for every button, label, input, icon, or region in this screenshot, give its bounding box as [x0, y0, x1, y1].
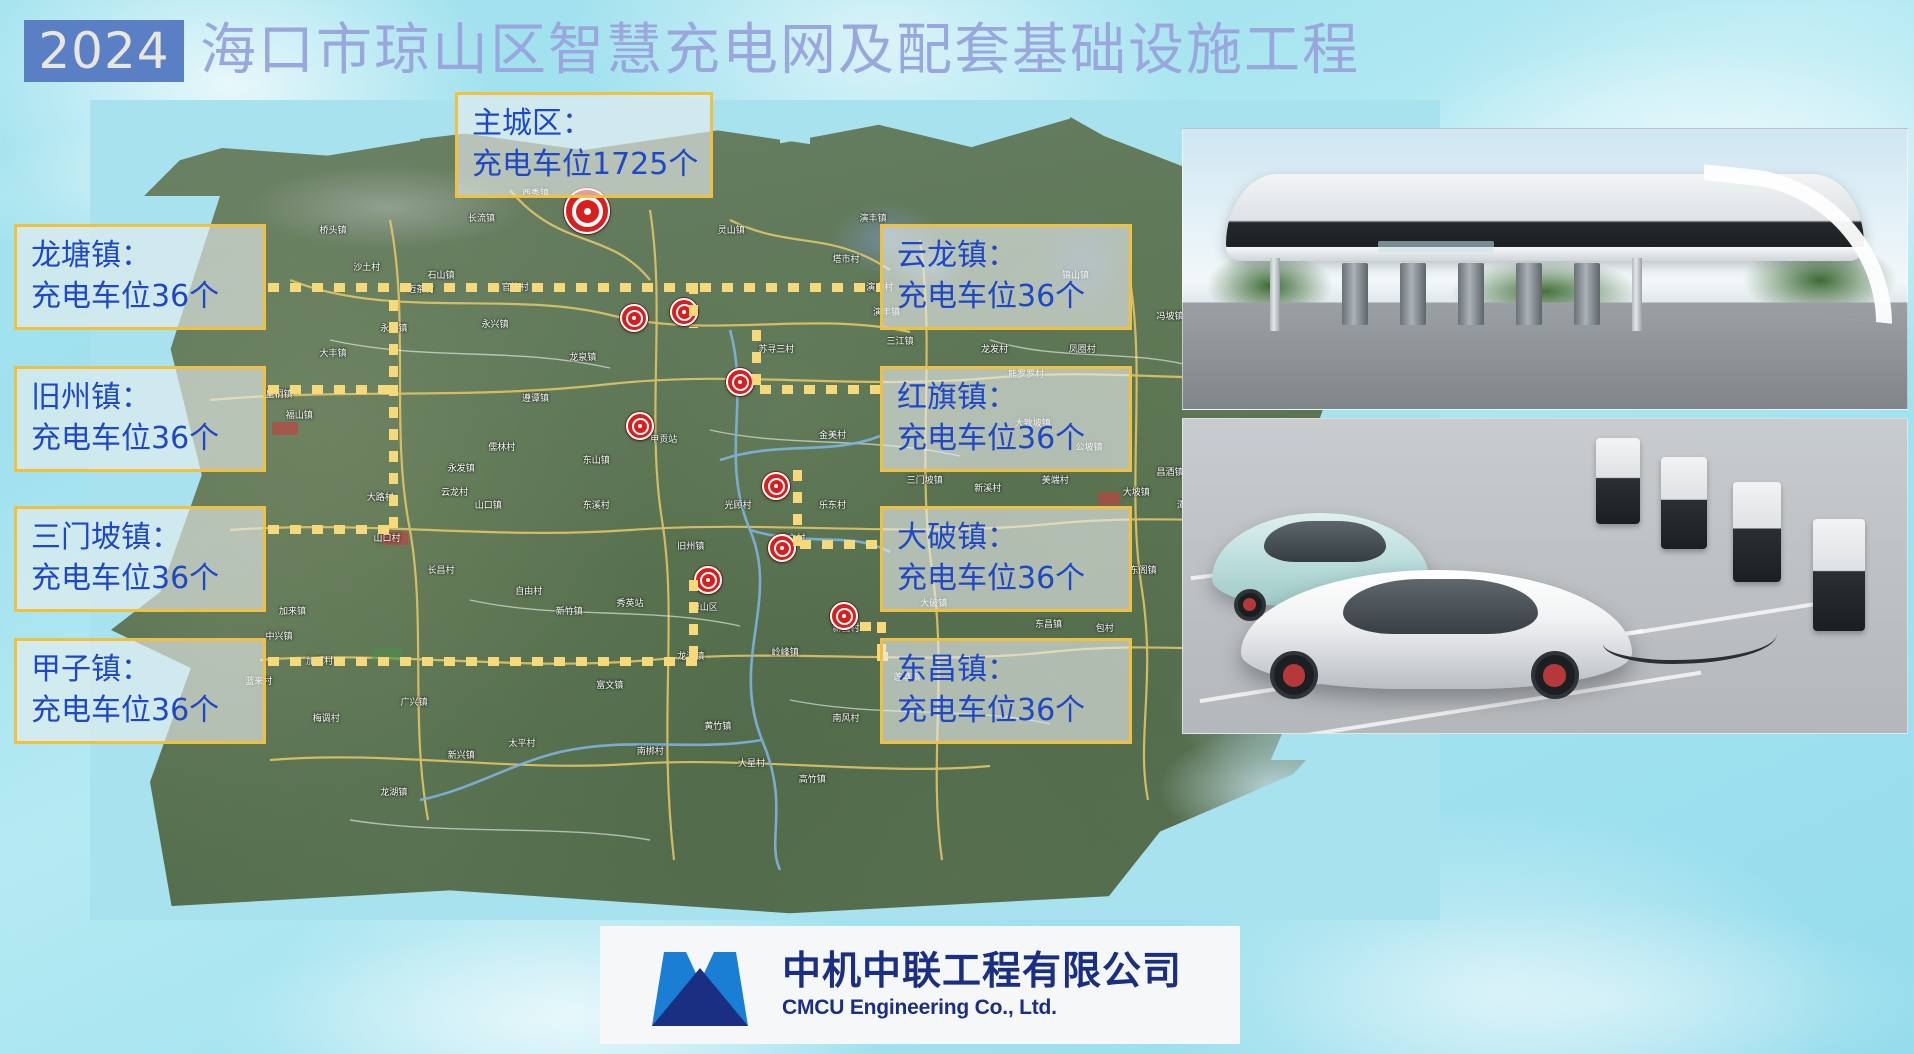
map-place-label: 苏寻三村	[758, 342, 794, 355]
map-place-label: 三江镇	[887, 334, 914, 347]
ev-charger-post-1	[1596, 438, 1640, 524]
charger-marker-dongchang[interactable]	[830, 602, 858, 630]
car-white-wheel-rear	[1531, 651, 1579, 699]
year-badge: 2024	[24, 20, 184, 82]
map-place-label: 包村	[1096, 621, 1114, 634]
charging-cable	[1603, 614, 1777, 664]
map-place-label: 金美村	[819, 428, 846, 441]
callout-detail: 充电车位36个	[31, 418, 249, 459]
map-place-label: 永兴镇	[482, 317, 509, 330]
station-charger-1	[1342, 263, 1368, 325]
map-place-label: 大星村	[738, 756, 765, 769]
map-place-label: 龙泉镇	[569, 350, 596, 363]
ev-charger-post-3	[1733, 482, 1781, 582]
connector-jiazi	[268, 657, 698, 666]
map-place-label: 旧州镇	[677, 539, 704, 552]
map-place-label: 太平村	[509, 736, 536, 749]
callout-detail: 充电车位1725个	[472, 144, 696, 185]
charger-marker-jiuzhou[interactable]	[626, 412, 654, 440]
connector-hongqi	[760, 385, 880, 394]
callout-detail: 充电车位36个	[31, 690, 249, 731]
station-leg-2	[1632, 258, 1642, 331]
map-place-label: 东昌镇	[1035, 617, 1062, 630]
map-place-label: 龙发村	[981, 342, 1008, 355]
company-logo-bar: 中机中联工程有限公司 CMCU Engineering Co., Ltd.	[600, 926, 1240, 1044]
map-place-label: 长昌村	[428, 563, 455, 576]
charging-station-photo	[1182, 128, 1908, 410]
car-white-wheel-front	[1270, 651, 1318, 699]
map-place-label: 三门坡镇	[907, 473, 943, 486]
map-place-label: 南风村	[833, 711, 860, 724]
car-windshield	[1264, 521, 1386, 562]
callout-title: 云龙镇：	[897, 235, 1115, 276]
callout-title: 龙塘镇：	[31, 235, 249, 276]
map-place-label: 演丰镇	[860, 211, 887, 224]
station-swoosh	[1704, 164, 1892, 324]
map-place-label: 光顾村	[725, 498, 752, 511]
connector-hongqi-v	[752, 330, 761, 390]
connector-yunlong	[700, 283, 880, 292]
callout-main-city[interactable]: 主城区： 充电车位1725个	[455, 92, 713, 198]
callout-dongchang[interactable]: 东昌镇： 充电车位36个	[880, 638, 1132, 744]
map-place-label: 昌酒镇	[1157, 465, 1184, 478]
callout-hongqi[interactable]: 红旗镇： 充电车位36个	[880, 366, 1132, 472]
map-place-label: 永发镇	[448, 461, 475, 474]
map-place-label: 中兴镇	[266, 629, 293, 642]
station-leg-1	[1270, 258, 1280, 331]
callout-title: 三门坡镇：	[31, 517, 249, 558]
map-place-label: 东溪村	[583, 498, 610, 511]
connector-dapo	[800, 540, 884, 549]
map-place-label: 福山镇	[286, 408, 313, 421]
map-place-label: 东阁镇	[1130, 563, 1157, 576]
map-place-label: 富文镇	[596, 678, 623, 691]
map-place-label: 广兴镇	[401, 695, 428, 708]
ev-parking-photo	[1182, 418, 1908, 734]
map-place-label: 东山镇	[583, 453, 610, 466]
connector-sanmenpo	[268, 525, 398, 534]
callout-detail: 充电车位36个	[31, 558, 249, 599]
map-place-label: 南梆村	[637, 744, 664, 757]
map-place-label: 甲贡站	[650, 432, 677, 445]
map-place-label: 秀英站	[617, 596, 644, 609]
map-place-label: 长流镇	[468, 211, 495, 224]
map-place-label: 美端村	[1042, 473, 1069, 486]
map-place-label: 新溪村	[974, 481, 1001, 494]
map-place-label: 乐东村	[819, 498, 846, 511]
connector-dapo-v	[793, 470, 802, 546]
callout-dapo[interactable]: 大破镇： 充电车位36个	[880, 506, 1132, 612]
map-place-label: 加来镇	[279, 604, 306, 617]
callout-detail: 充电车位36个	[31, 276, 249, 317]
callout-title: 旧州镇：	[31, 377, 249, 418]
company-name-en: CMCU Engineering Co., Ltd.	[782, 995, 1182, 1021]
callout-longtang[interactable]: 龙塘镇： 充电车位36个	[14, 224, 266, 330]
connector-jiazi-v	[689, 580, 698, 662]
map-place-label: 儒林村	[488, 440, 515, 453]
map-place-label: 沙土村	[353, 260, 380, 273]
station-charger-3	[1458, 263, 1484, 325]
background-watercolor-4	[1250, 900, 1914, 1054]
map-place-label: 凤圈村	[1069, 342, 1096, 355]
callout-jiuzhou[interactable]: 旧州镇： 充电车位36个	[14, 366, 266, 472]
callout-title: 红旗镇：	[897, 377, 1115, 418]
callout-title: 东昌镇：	[897, 649, 1115, 690]
map-place-label: 灵山镇	[718, 223, 745, 236]
callout-yunlong[interactable]: 云龙镇： 充电车位36个	[880, 224, 1132, 330]
charger-marker-dapo[interactable]	[768, 534, 796, 562]
charger-marker-longtang[interactable]	[620, 304, 648, 332]
callout-detail: 充电车位36个	[897, 558, 1115, 599]
mountain-m-icon	[644, 942, 756, 1028]
station-signage	[1378, 241, 1494, 252]
station-charger-4	[1516, 263, 1542, 325]
ev-charger-post-4	[1813, 519, 1865, 631]
logo-text: 中机中联工程有限公司 CMCU Engineering Co., Ltd.	[782, 949, 1182, 1021]
map-place-label: 龙湖镇	[380, 785, 407, 798]
map-place-label: 黄竹镇	[704, 719, 731, 732]
charger-marker-jiazi[interactable]	[694, 566, 722, 594]
map-place-label: 桥头镇	[320, 223, 347, 236]
map-place-label: 大坡镇	[1123, 485, 1150, 498]
station-charger-2	[1400, 263, 1426, 325]
station-charger-5	[1574, 263, 1600, 325]
car-roof-glass	[1343, 579, 1538, 634]
map-place-label: 梅调村	[313, 711, 340, 724]
map-place-label: 高竹镇	[799, 772, 826, 785]
callout-title: 大破镇：	[897, 517, 1115, 558]
charger-marker-sanmenpo[interactable]	[762, 472, 790, 500]
connector-longtang	[268, 283, 698, 292]
callout-detail: 充电车位36个	[897, 418, 1115, 459]
callout-title: 主城区：	[472, 103, 696, 144]
map-place-label: 自由村	[515, 584, 542, 597]
connector-sanmenpo-v	[389, 385, 398, 530]
callout-jiazi[interactable]: 甲子镇： 充电车位36个	[14, 638, 266, 744]
map-place-label: 石山镇	[428, 268, 455, 281]
map-place-label: 山口镇	[475, 498, 502, 511]
ev-charger-post-2	[1661, 457, 1707, 549]
charger-marker-hongqi[interactable]	[726, 368, 754, 396]
map-place-label: 塔市村	[833, 252, 860, 265]
map-place-label: 岭峰镇	[772, 645, 799, 658]
map-place-label: 新竹镇	[556, 604, 583, 617]
page-title: 海口市琼山区智慧充电网及配套基础设施工程	[200, 18, 1360, 84]
connector-longtang-v	[689, 283, 698, 328]
connector-jiuzhou-v	[389, 300, 398, 390]
callout-sanmenpo[interactable]: 三门坡镇： 充电车位36个	[14, 506, 266, 612]
map-place-label: 大丰镇	[320, 346, 347, 359]
page-header: 2024 海口市琼山区智慧充电网及配套基础设施工程	[0, 0, 1914, 100]
map-place-label: 冯坡镇	[1157, 309, 1184, 322]
cmcu-logo-mark	[644, 942, 756, 1028]
company-name-cn: 中机中联工程有限公司	[782, 949, 1182, 995]
callout-title: 甲子镇：	[31, 649, 249, 690]
connector-jiuzhou	[268, 385, 398, 394]
callout-detail: 充电车位36个	[897, 690, 1115, 731]
map-place-label: 遵谭镇	[522, 391, 549, 404]
map-place-label: 云龙村	[441, 485, 468, 498]
map-place-label: 新兴镇	[448, 748, 475, 761]
callout-detail: 充电车位36个	[897, 276, 1115, 317]
